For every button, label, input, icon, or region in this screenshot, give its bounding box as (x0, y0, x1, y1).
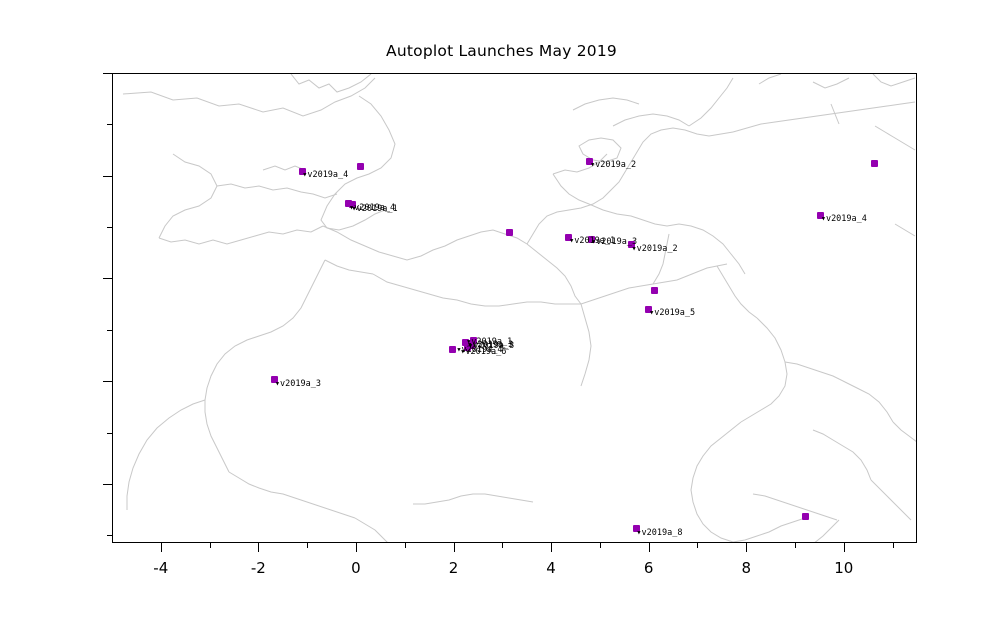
x-tick-label: -4 (153, 559, 168, 577)
x-tick-label: -2 (251, 559, 266, 577)
x-tick-label: 4 (546, 559, 556, 577)
x-tick-label: 2 (449, 559, 459, 577)
x-tick-label: 0 (351, 559, 361, 577)
x-tick-label: 6 (644, 559, 654, 577)
x-tick-label: 10 (834, 559, 853, 577)
x-tick-label: 8 (741, 559, 751, 577)
x-tick-labels: -4-20246810 (0, 0, 1003, 633)
figure-canvas: Autoplot Launches May 2019 (0, 0, 1003, 633)
